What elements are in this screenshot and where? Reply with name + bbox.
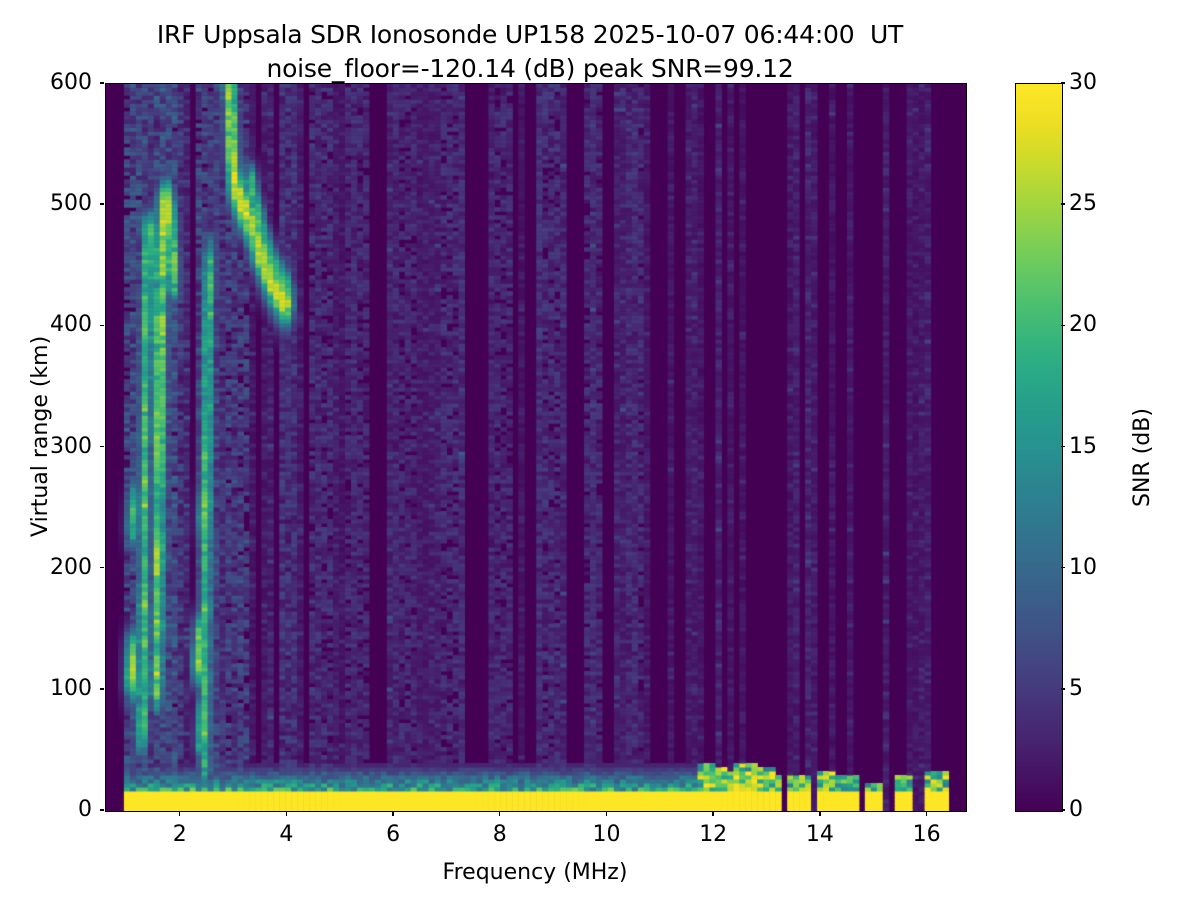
x-tick-label: 12: [699, 824, 727, 846]
colorbar-tick-mark: [1061, 567, 1065, 568]
y-tick-label: 0: [30, 799, 92, 821]
y-axis-title: Virtual range (km): [28, 335, 53, 536]
x-tick-mark: [712, 812, 713, 816]
figure-title: IRF Uppsala SDR Ionosonde UP158 2025-10-…: [0, 18, 1060, 86]
y-tick-label: 500: [30, 193, 92, 215]
x-tick-mark: [819, 812, 820, 816]
y-tick-mark: [100, 446, 104, 447]
x-axis-title: Frequency (MHz): [105, 860, 965, 885]
y-tick-mark: [100, 688, 104, 689]
y-tick-mark: [100, 567, 104, 568]
colorbar-tick-label: 25: [1069, 193, 1097, 215]
x-tick-label: 6: [386, 824, 400, 846]
colorbar-tick-mark: [1061, 82, 1065, 83]
colorbar-tick-label: 15: [1069, 436, 1097, 458]
title-line-1: IRF Uppsala SDR Ionosonde UP158 2025-10-…: [0, 18, 1060, 52]
colorbar-tick-label: 10: [1069, 557, 1097, 579]
x-tick-mark: [392, 812, 393, 816]
colorbar-tick-label: 20: [1069, 314, 1097, 336]
x-tick-mark: [926, 812, 927, 816]
x-tick-label: 8: [493, 824, 507, 846]
ionogram-figure: IRF Uppsala SDR Ionosonde UP158 2025-10-…: [0, 0, 1200, 900]
colorbar-tick-mark: [1061, 325, 1065, 326]
x-tick-label: 2: [173, 824, 187, 846]
colorbar-tick-mark: [1061, 809, 1065, 810]
colorbar-tick-mark: [1061, 688, 1065, 689]
x-tick-label: 14: [806, 824, 834, 846]
x-tick-mark: [179, 812, 180, 816]
colorbar-title: SNR (dB): [1130, 408, 1155, 507]
y-tick-label: 400: [30, 314, 92, 336]
colorbar-tick-label: 5: [1069, 678, 1083, 700]
y-tick-mark: [100, 809, 104, 810]
x-tick-mark: [499, 812, 500, 816]
ionogram-heatmap-canvas[interactable]: [106, 84, 966, 811]
y-tick-label: 600: [30, 72, 92, 94]
y-tick-label: 100: [30, 678, 92, 700]
title-line-2: noise_floor=-120.14 (dB) peak SNR=99.12: [0, 52, 1060, 86]
y-tick-mark: [100, 325, 104, 326]
x-tick-label: 16: [913, 824, 941, 846]
x-tick-mark: [606, 812, 607, 816]
colorbar-tick-label: 0: [1069, 799, 1083, 821]
y-tick-mark: [100, 203, 104, 204]
y-tick-mark: [100, 82, 104, 83]
x-tick-label: 10: [592, 824, 620, 846]
colorbar-tick-label: 30: [1069, 72, 1097, 94]
colorbar: [1015, 83, 1063, 812]
colorbar-tick-mark: [1061, 446, 1065, 447]
y-tick-label: 200: [30, 557, 92, 579]
ionogram-plot-area[interactable]: [105, 83, 967, 812]
x-tick-label: 4: [279, 824, 293, 846]
colorbar-gradient: [1016, 84, 1062, 811]
colorbar-tick-mark: [1061, 203, 1065, 204]
x-tick-mark: [286, 812, 287, 816]
